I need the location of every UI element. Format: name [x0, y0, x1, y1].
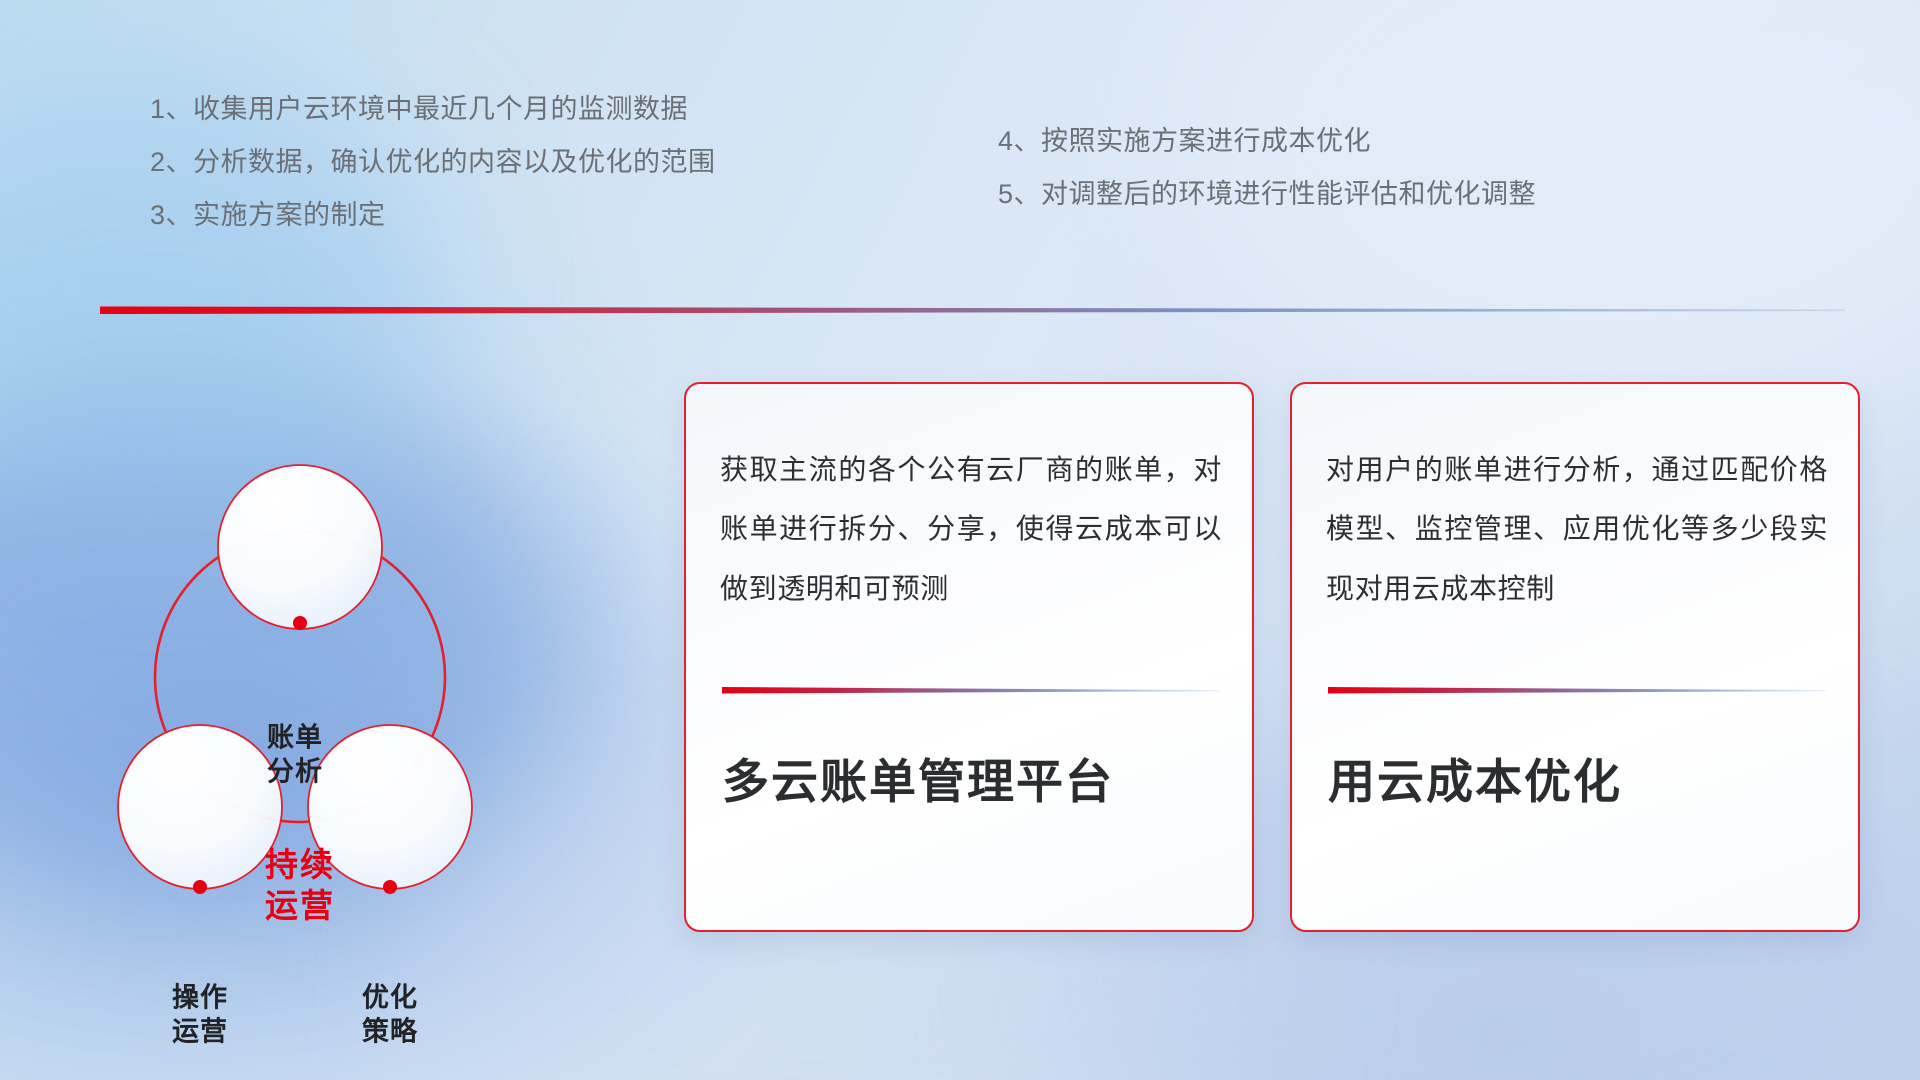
bubble-label-operations: 操作 运营	[110, 981, 290, 1049]
section-divider	[100, 300, 1845, 316]
slide-root: 1、收集用户云环境中最近几个月的监测数据 2、分析数据，确认优化的内容以及优化的…	[0, 0, 1920, 1080]
card-title: 用云成本优化	[1328, 754, 1830, 810]
diagram-svg	[95, 355, 675, 955]
node-dot-top	[293, 616, 307, 630]
card-divider-shape	[722, 684, 1220, 696]
bubble-label-line1: 优化	[300, 981, 480, 1015]
bubble-label-billing-analysis: 账单 分析	[205, 721, 385, 789]
card-body-text: 对用户的账单进行分析，通过匹配价格模型、监控管理、应用优化等多少段实现对用云成本…	[1326, 440, 1828, 618]
center-label-line2: 运营	[265, 885, 335, 926]
steps-right-column: 4、按照实施方案进行成本优化 5、对调整后的环境进行性能评估和优化调整	[998, 128, 1536, 234]
card-divider	[722, 684, 1220, 696]
steps-left-column: 1、收集用户云环境中最近几个月的监测数据 2、分析数据，确认优化的内容以及优化的…	[150, 96, 716, 255]
step-item-5: 5、对调整后的环境进行性能评估和优化调整	[998, 181, 1536, 208]
step-item-4: 4、按照实施方案进行成本优化	[998, 128, 1536, 155]
bubble-label-line2: 分析	[205, 755, 385, 789]
step-item-3: 3、实施方案的制定	[150, 202, 716, 229]
card-divider-shape	[1328, 684, 1826, 696]
diagram-center-label: 持续 运营	[265, 844, 335, 927]
card-cloud-cost-optimization[interactable]: 对用户的账单进行分析，通过匹配价格模型、监控管理、应用优化等多少段实现对用云成本…	[1290, 382, 1860, 932]
bubble-billing-analysis	[218, 465, 382, 629]
continuous-operation-diagram: 账单 分析 操作 运营 优化 策略 持续 运营	[95, 355, 675, 955]
steps-list: 1、收集用户云环境中最近几个月的监测数据 2、分析数据，确认优化的内容以及优化的…	[150, 96, 1830, 266]
section-divider-shape	[100, 300, 1845, 316]
card-body-text: 获取主流的各个公有云厂商的账单，对账单进行拆分、分享，使得云成本可以做到透明和可…	[720, 440, 1222, 618]
bubble-label-line2: 策略	[300, 1015, 480, 1049]
bubble-label-line1: 账单	[205, 721, 385, 755]
node-dot-left	[193, 880, 207, 894]
bubble-label-line1: 操作	[110, 981, 290, 1015]
card-title: 多云账单管理平台	[722, 754, 1224, 810]
node-dot-right	[383, 880, 397, 894]
step-item-1: 1、收集用户云环境中最近几个月的监测数据	[150, 96, 716, 123]
step-item-2: 2、分析数据，确认优化的内容以及优化的范围	[150, 149, 716, 176]
center-label-line1: 持续	[265, 844, 335, 885]
card-divider	[1328, 684, 1826, 696]
bubble-label-line2: 运营	[110, 1015, 290, 1049]
bubble-label-optimization-strategy: 优化 策略	[300, 981, 480, 1049]
card-multicloud-billing-platform[interactable]: 获取主流的各个公有云厂商的账单，对账单进行拆分、分享，使得云成本可以做到透明和可…	[684, 382, 1254, 932]
